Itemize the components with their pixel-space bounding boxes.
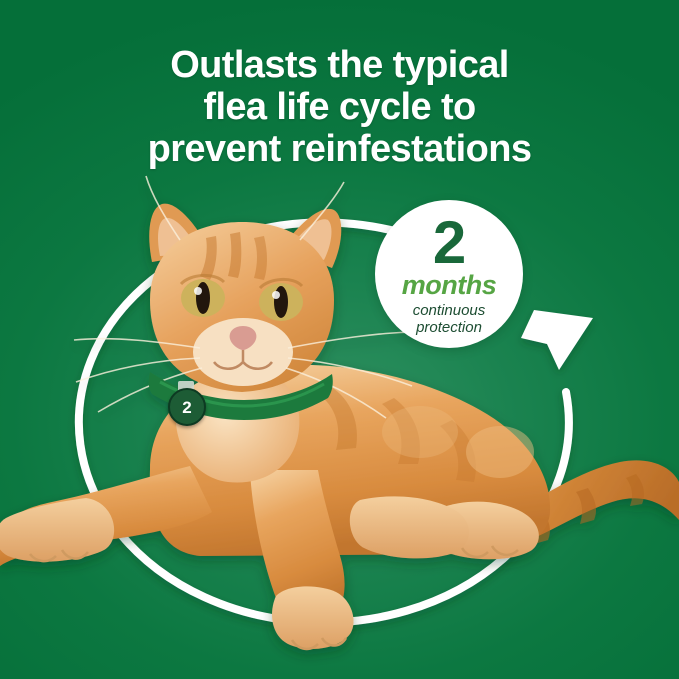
badge-number: 2 [433,217,465,269]
product-feature-image: Outlasts the typical flea life cycle to … [0,0,679,679]
page-title: Outlasts the typical flea life cycle to … [0,44,679,170]
headline-line-1: Outlasts the typical [0,44,679,86]
badge-unit: months [402,271,497,299]
headline-line-2: flea life cycle to [0,86,679,128]
headline-line-3: prevent reinfestations [0,128,679,170]
duration-badge: 2 months continuous protection [375,200,523,348]
badge-subtitle-line-2: protection [413,319,486,336]
badge-subtitle: continuous protection [413,302,486,336]
badge-subtitle-line-1: continuous [413,302,486,319]
